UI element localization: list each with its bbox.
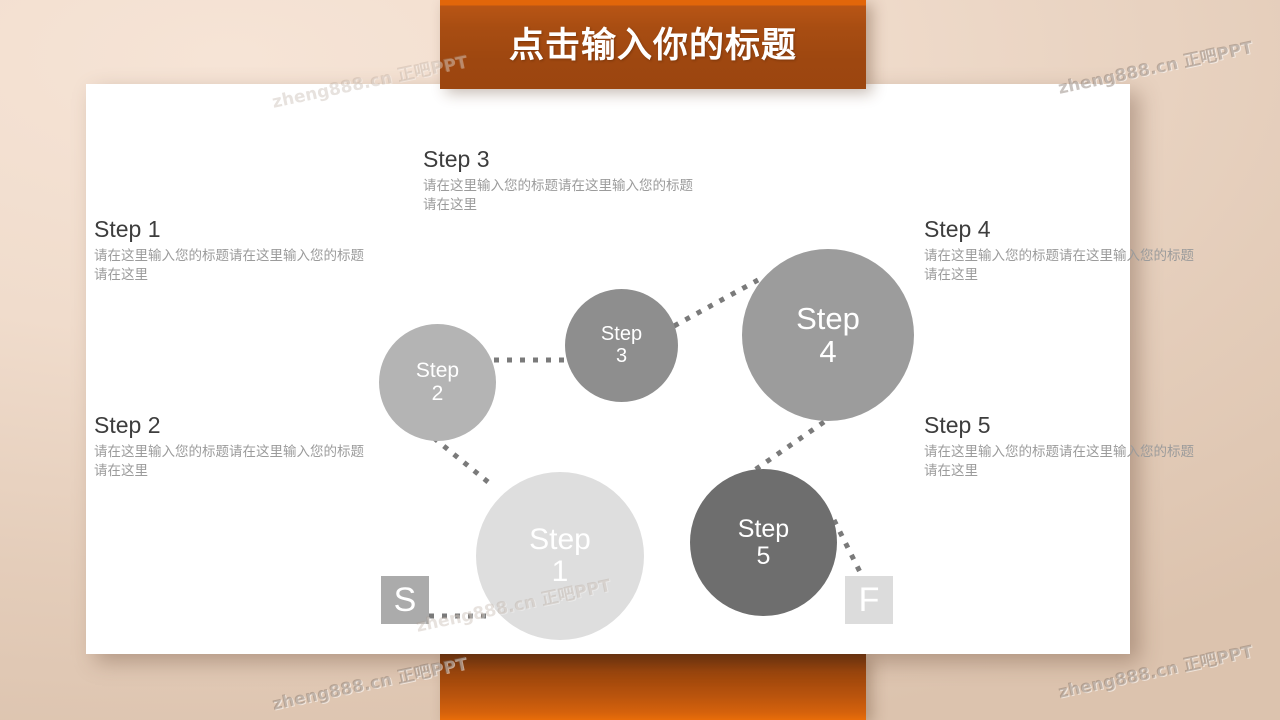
title-banner: 点击输入你的标题 [440, 0, 866, 89]
step2-description: 请在这里输入您的标题请在这里输入您的标题请在这里 [94, 442, 374, 480]
step-circle-step3[interactable]: Step 3 [565, 289, 678, 402]
step-circle-step5[interactable]: Step 5 [690, 469, 837, 616]
page-title: 点击输入你的标题 [440, 24, 866, 68]
start-marker[interactable]: S [381, 576, 429, 624]
step-block-step5: Step 5 请在这里输入您的标题请在这里输入您的标题请在这里 [924, 410, 1204, 480]
connector-step5-to-finish [834, 520, 864, 580]
finish-marker-label: F [859, 581, 880, 620]
step2-title: Step 2 [94, 410, 374, 440]
step-block-step4: Step 4 请在这里输入您的标题请在这里输入您的标题请在这里 [924, 214, 1204, 284]
step-circle-step2[interactable]: Step 2 [379, 324, 496, 441]
step-circle-step4[interactable]: Step 4 [742, 249, 914, 421]
slide-panel: Step 1 请在这里输入您的标题请在这里输入您的标题请在这里 Step 2 请… [86, 84, 1130, 654]
step1-title: Step 1 [94, 214, 374, 244]
step-block-step3: Step 3 请在这里输入您的标题请在这里输入您的标题请在这里 [423, 144, 703, 214]
bottom-accent-bar [440, 654, 866, 720]
step4-circle-line2: 4 [819, 335, 836, 368]
step3-circle-line2: 3 [616, 346, 627, 368]
step1-circle-line1: Step [529, 524, 591, 556]
step5-circle-line1: Step [738, 516, 789, 543]
finish-marker[interactable]: F [845, 576, 893, 624]
step5-description: 请在这里输入您的标题请在这里输入您的标题请在这里 [924, 442, 1204, 480]
start-marker-label: S [394, 581, 417, 620]
step5-title: Step 5 [924, 410, 1204, 440]
step1-description: 请在这里输入您的标题请在这里输入您的标题请在这里 [94, 246, 374, 284]
step-block-step1: Step 1 请在这里输入您的标题请在这里输入您的标题请在这里 [94, 214, 374, 284]
step2-circle-line2: 2 [432, 383, 444, 406]
step4-circle-line1: Step [796, 302, 860, 335]
step-block-step2: Step 2 请在这里输入您的标题请在这里输入您的标题请在这里 [94, 410, 374, 480]
step4-title: Step 4 [924, 214, 1204, 244]
step4-description: 请在这里输入您的标题请在这里输入您的标题请在这里 [924, 246, 1204, 284]
step3-title: Step 3 [423, 144, 703, 174]
step5-circle-line2: 5 [757, 543, 771, 570]
step2-circle-line1: Step [416, 360, 459, 383]
connector-step4-to-step5 [746, 422, 824, 476]
step3-circle-line1: Step [601, 324, 642, 346]
step1-circle-line2: 1 [552, 556, 569, 588]
step3-description: 请在这里输入您的标题请在这里输入您的标题请在这里 [423, 176, 703, 214]
step-circle-step1[interactable]: Step 1 [476, 472, 644, 640]
